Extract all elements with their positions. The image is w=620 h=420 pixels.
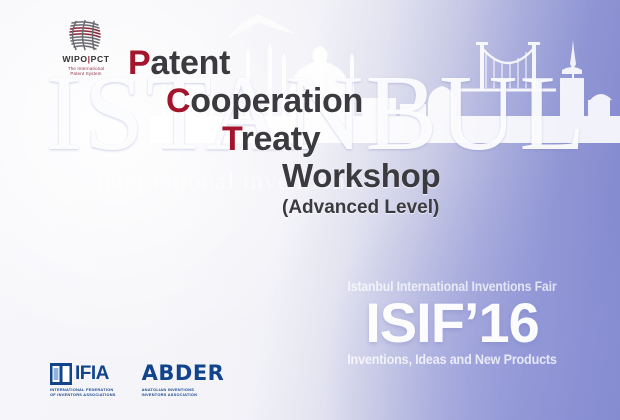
isif-fair-name: Istanbul International Inventions Fair	[329, 278, 575, 294]
partner-logos: IFIA INTERNATIONAL FEDERATION OF INVENTO…	[50, 363, 224, 398]
poster-canvas: ISTANBUL international inventions WIPO|P…	[0, 0, 620, 420]
ifia-logo: IFIA INTERNATIONAL FEDERATION OF INVENTO…	[50, 363, 116, 398]
ifia-wordmark: IFIA	[75, 364, 109, 383]
title-word-cooperation: ooperation	[190, 82, 363, 120]
abder-logo: ABDER ANATOLIAN INVENTIONS INVENTORS ASS…	[142, 363, 225, 398]
title-initial-p: P	[128, 44, 150, 82]
title-initial-c: C	[166, 82, 190, 120]
title-line-patent: Patent	[0, 44, 500, 82]
title-line-treaty: Treaty	[0, 120, 500, 158]
title-subtitle-level: (Advanced Level)	[0, 197, 500, 219]
title-line-cooperation: Cooperation	[0, 82, 500, 120]
isif-branding: Istanbul International Inventions Fair I…	[312, 278, 592, 367]
title-line-workshop: Workshop	[0, 158, 500, 195]
abder-wordmark: ABDER	[142, 363, 225, 384]
abder-tagline: ANATOLIAN INVENTIONS INVENTORS ASSOCIATI…	[142, 387, 225, 398]
abder-tagline-line2: INVENTORS ASSOCIATION	[142, 392, 225, 398]
isif-tagline: Inventions, Ideas and New Products	[326, 351, 578, 367]
ifia-tagline: INTERNATIONAL FEDERATION OF INVENTORS AS…	[50, 387, 116, 398]
ifia-book-icon	[50, 363, 72, 385]
isif-logotype: ISIF’16	[312, 296, 592, 349]
ifia-logo-row: IFIA	[50, 363, 116, 385]
page-title: Patent Cooperation Treaty Workshop (Adva…	[0, 44, 500, 219]
ifia-tagline-line2: OF INVENTORS ASSOCIATIONS	[50, 392, 116, 398]
title-word-treaty: reaty	[241, 120, 321, 158]
title-initial-t: T	[222, 120, 241, 158]
title-word-patent: atent	[150, 44, 230, 82]
